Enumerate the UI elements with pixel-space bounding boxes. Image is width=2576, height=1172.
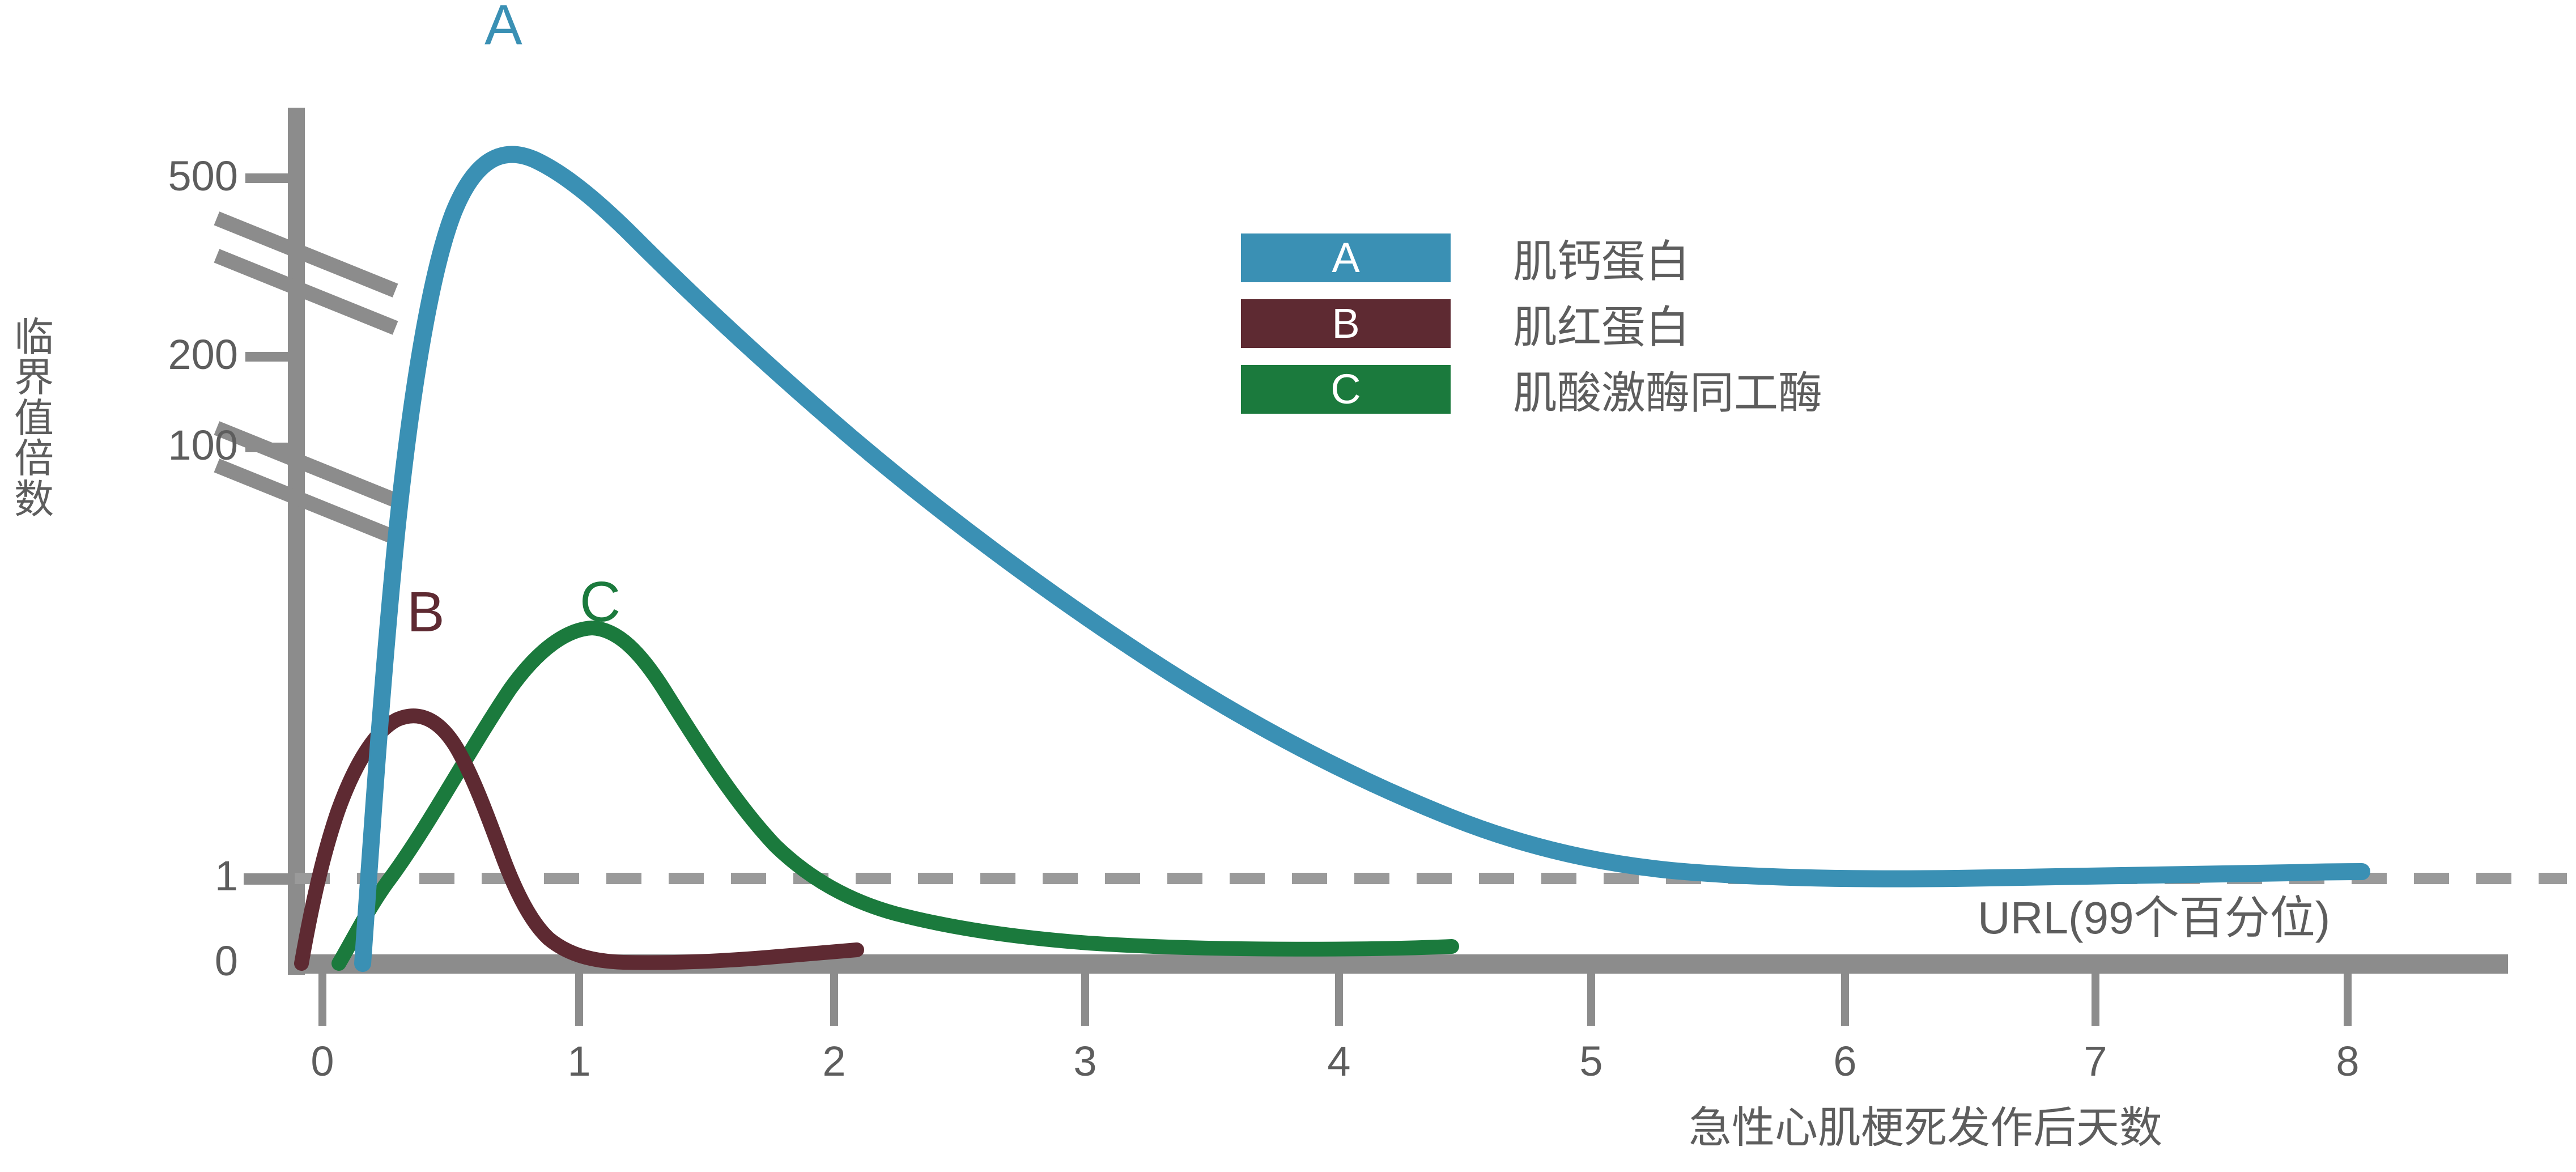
y-tick-label-1: 1 <box>102 852 238 900</box>
x-tick-label-2: 2 <box>766 1037 902 1085</box>
curve-label-b: B <box>407 584 445 640</box>
curve-label-c: C <box>580 574 620 630</box>
legend-key-c: C <box>1330 368 1361 410</box>
y-tick-label-500: 500 <box>102 152 238 200</box>
series-c-curve <box>339 628 1452 963</box>
y-axis-title-char: 倍 <box>0 439 68 479</box>
y-axis-title: 临 界 值 倍 数 <box>0 317 68 520</box>
url-reference-label: URL(99个百分位) <box>1978 881 2330 947</box>
x-tick-label-3: 3 <box>1017 1037 1153 1085</box>
y-axis-title-char: 值 <box>0 398 68 439</box>
y-axis-line <box>288 108 305 975</box>
y-tick-label-0: 0 <box>102 937 238 985</box>
chart-canvas: 临 界 值 倍 数 500 200 100 1 0 0 1 2 3 4 5 6 … <box>0 0 2576 1172</box>
legend-item-a[interactable]: A 肌钙蛋白 <box>1241 227 1822 289</box>
legend-key-a: A <box>1332 237 1359 279</box>
legend-swatch-b: B <box>1241 299 1451 348</box>
legend-item-b[interactable]: B 肌红蛋白 <box>1241 292 1822 355</box>
y-tick-label-100: 100 <box>102 421 238 469</box>
legend-key-b: B <box>1332 303 1359 345</box>
legend: A 肌钙蛋白 B 肌红蛋白 C 肌酸激酶同工酶 <box>1241 227 1822 424</box>
legend-swatch-c: C <box>1241 365 1451 414</box>
y-axis-title-char: 数 <box>0 479 68 520</box>
legend-item-c[interactable]: C 肌酸激酶同工酶 <box>1241 358 1822 421</box>
x-tick-label-7: 7 <box>2027 1037 2163 1085</box>
x-tick-label-8: 8 <box>2280 1037 2416 1085</box>
y-axis-title-char: 界 <box>0 358 68 398</box>
legend-label-b: 肌红蛋白 <box>1513 292 1690 355</box>
y-axis-title-char: 临 <box>0 317 68 358</box>
chart-plot-area <box>0 0 2576 1172</box>
y-tick-label-200: 200 <box>102 330 238 379</box>
y-axis-break-upper <box>214 211 398 334</box>
x-tick-label-5: 5 <box>1523 1037 1659 1085</box>
x-tick-label-1: 1 <box>511 1037 647 1085</box>
x-tick-label-0: 0 <box>254 1037 390 1085</box>
x-tick-marks <box>318 974 2352 1026</box>
legend-label-c: 肌酸激酶同工酶 <box>1513 358 1822 421</box>
legend-label-a: 肌钙蛋白 <box>1513 226 1690 290</box>
legend-swatch-a: A <box>1241 233 1451 282</box>
x-tick-label-4: 4 <box>1271 1037 1407 1085</box>
y-axis-break-lower <box>214 421 398 544</box>
curve-label-a: A <box>484 0 522 53</box>
x-tick-label-6: 6 <box>1777 1037 1913 1085</box>
x-axis-title: 急性心肌梗死发作后天数 <box>1689 1093 2162 1155</box>
